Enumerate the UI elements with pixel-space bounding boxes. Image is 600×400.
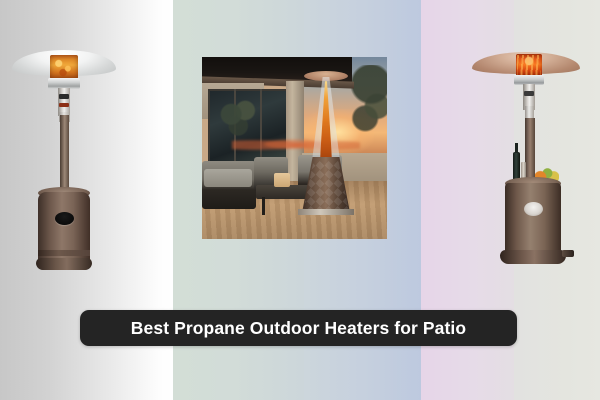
title-banner: Best Propane Outdoor Heaters for Patio [80,310,517,346]
heater-base-ring [38,250,90,256]
heater-base-access-port [524,202,543,216]
gas-valve [562,250,574,257]
heater-flame-screen [50,55,78,79]
heater-base-foot [36,258,92,270]
heater-base-foot [500,250,566,264]
heater-control-knob [59,94,69,99]
heater-base-access-port [55,212,74,225]
screenshot-canvas: Best Propane Outdoor Heaters for Patio [0,0,600,400]
heater-flame-screen [516,54,542,76]
heater-ignition-knob [59,103,69,107]
patio-scene-photo [202,57,387,239]
pyramid-heater-base [298,209,354,215]
heater-control-knob [524,91,534,96]
product-image-mushroom-patio-heater [12,44,116,280]
heat-wave-effect [232,135,360,155]
product-image-patio-heater-with-ice-bucket [472,44,580,284]
heater-base-cylinder [505,183,561,259]
page-title: Best Propane Outdoor Heaters for Patio [131,318,466,339]
table-leg [262,197,265,215]
heater-pole [60,115,69,195]
sofa-cushion [204,169,252,187]
table-decor [274,173,290,187]
